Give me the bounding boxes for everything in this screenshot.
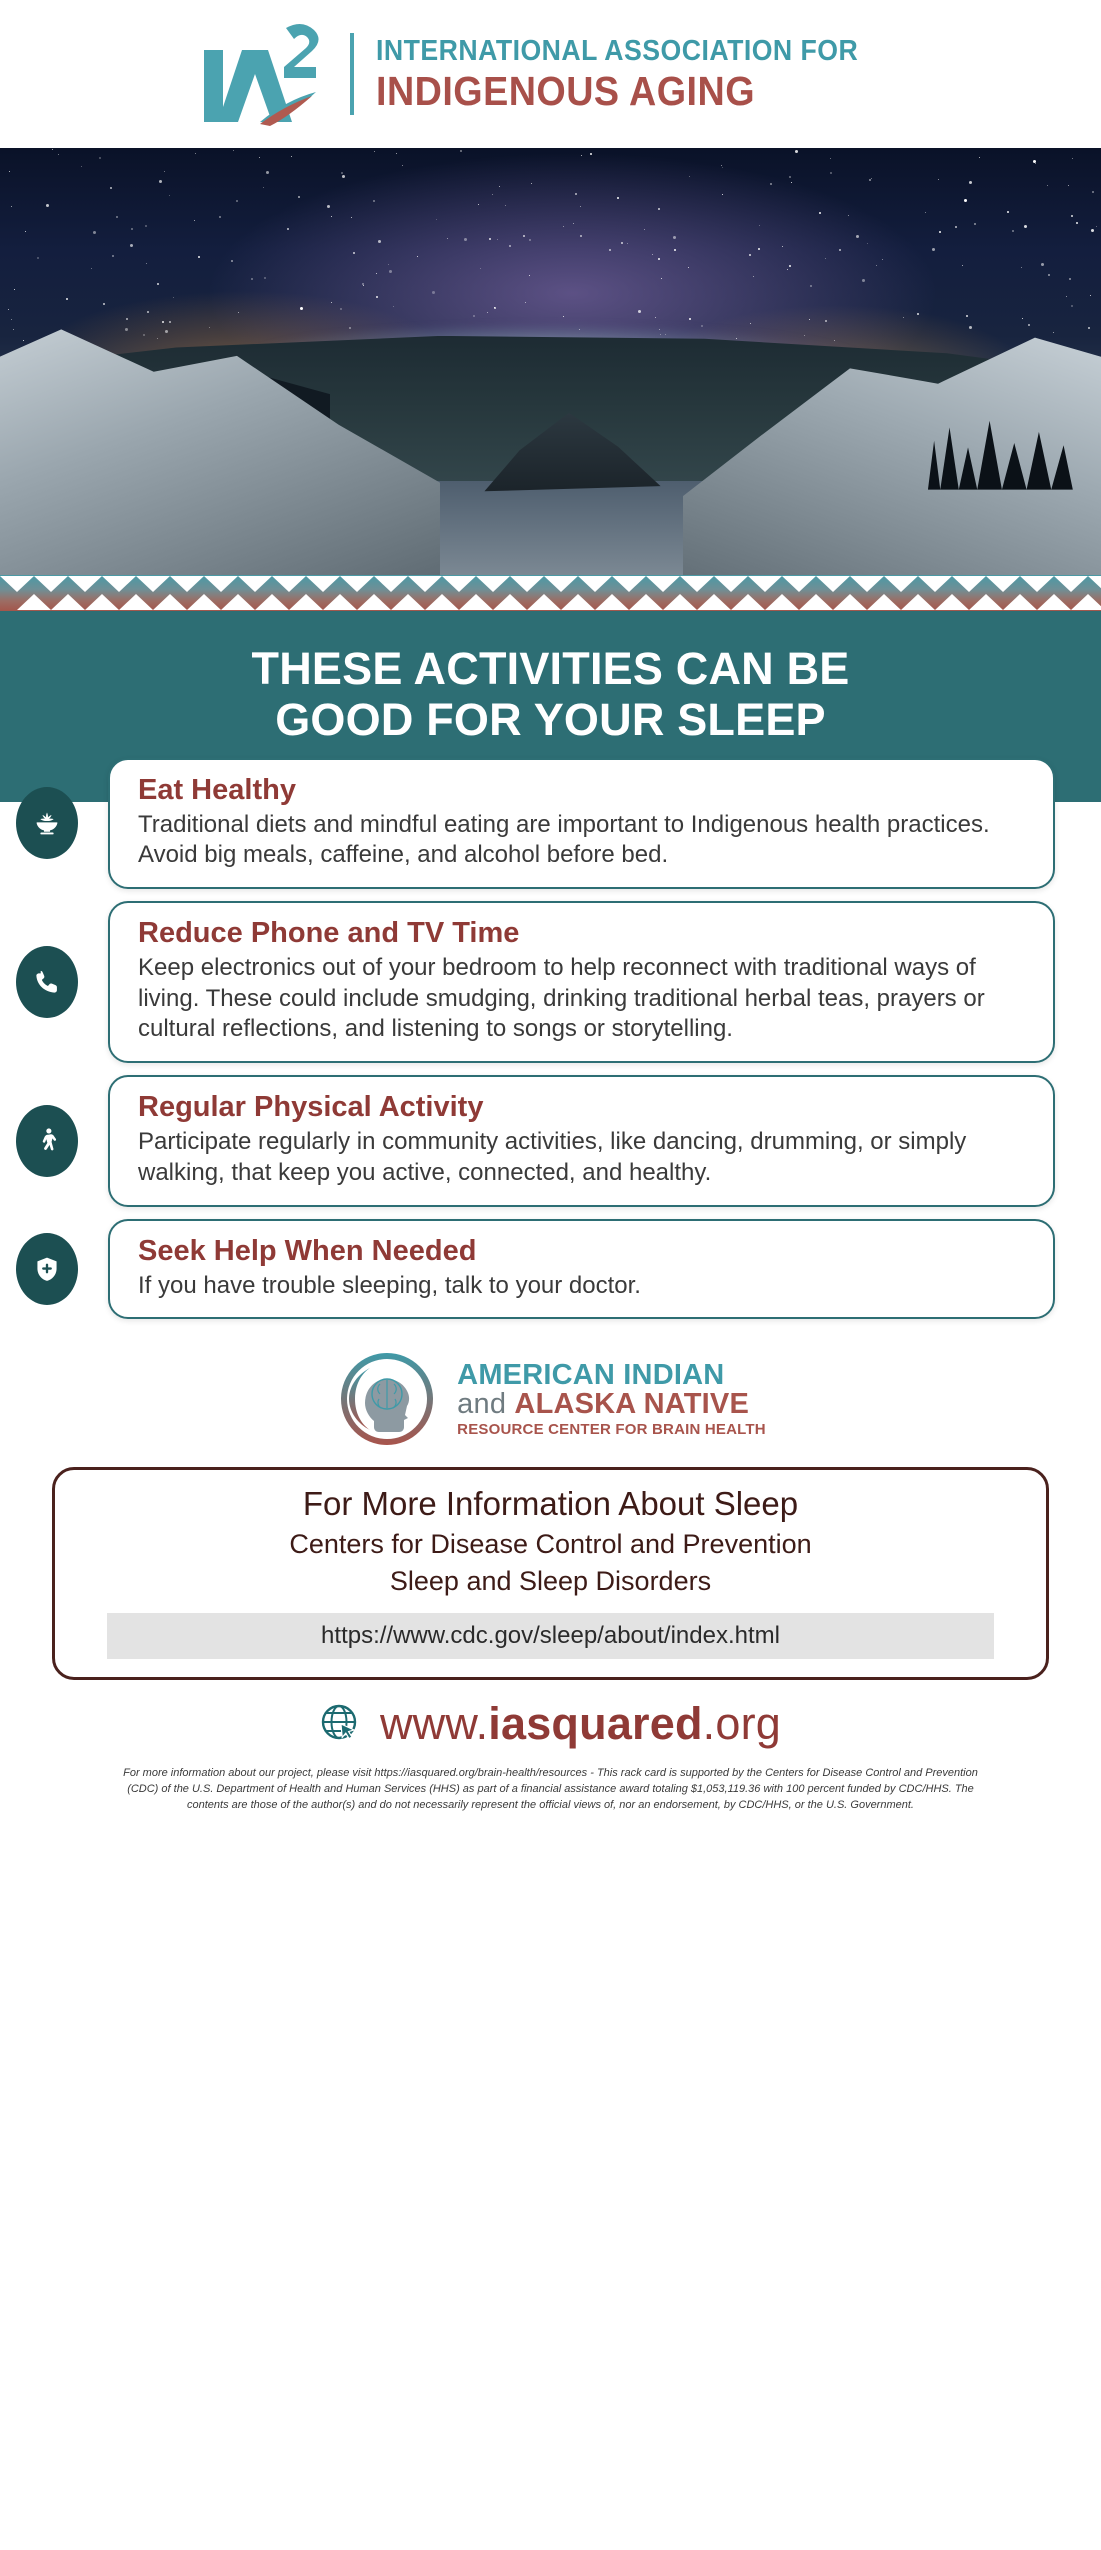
- activity-title: Regular Physical Activity: [138, 1091, 1025, 1124]
- brain-head-profile-icon: [335, 1347, 439, 1451]
- website-url-text: www.iasquared.org: [380, 1698, 781, 1750]
- activity-body: Keep electronics out of your bedroom to …: [138, 953, 1025, 1045]
- logo-line-2: INDIGENOUS AGING: [376, 71, 858, 112]
- ia2-logo[interactable]: INTERNATIONAL ASSOCIATION FOR INDIGENOUS…: [200, 22, 900, 126]
- zigzag-divider: [0, 575, 1101, 611]
- logo-line-1: INTERNATIONAL ASSOCIATION FOR: [376, 37, 858, 66]
- website-brand: iasquared: [488, 1698, 702, 1749]
- aian-line-1: AMERICAN INDIAN: [457, 1361, 766, 1390]
- aian-line-2-bold: ALASKA NATIVE: [514, 1388, 749, 1420]
- activity-card[interactable]: Regular Physical Activity Participate re…: [108, 1075, 1055, 1206]
- aian-line-2-lite: and: [457, 1388, 514, 1420]
- page-title: THESE ACTIVITIES CAN BE GOOD FOR YOUR SL…: [0, 643, 1101, 746]
- more-information-box: For More Information About Sleep Centers…: [52, 1467, 1049, 1680]
- website-prefix: www.: [380, 1698, 488, 1749]
- activity-title: Eat Healthy: [138, 774, 1025, 807]
- aian-line-3: RESOURCE CENTER FOR BRAIN HEALTH: [457, 1422, 766, 1437]
- headline-line-1: THESE ACTIVITIES CAN BE: [252, 643, 850, 694]
- phone-icon: [16, 946, 78, 1018]
- headline-line-2: GOOD FOR YOUR SLEEP: [275, 694, 826, 745]
- activity-card-list: Eat Healthy Traditional diets and mindfu…: [0, 758, 1101, 1326]
- aian-line-2: and ALASKA NATIVE: [457, 1390, 766, 1419]
- activity-body: Participate regularly in community activ…: [138, 1127, 1025, 1188]
- walking-person-icon: [16, 1105, 78, 1177]
- activity-title: Reduce Phone and TV Time: [138, 917, 1025, 950]
- shield-plus-icon: [16, 1233, 78, 1305]
- ia2-logo-mark-icon: [200, 22, 328, 126]
- website-suffix: .org: [703, 1698, 781, 1749]
- header: INTERNATIONAL ASSOCIATION FOR INDIGENOUS…: [0, 0, 1101, 148]
- aian-resource-center-logo[interactable]: AMERICAN INDIAN and ALASKA NATIVE RESOUR…: [0, 1325, 1101, 1463]
- activity-card[interactable]: Eat Healthy Traditional diets and mindfu…: [108, 758, 1055, 889]
- cdc-url[interactable]: https://www.cdc.gov/sleep/about/index.ht…: [107, 1613, 994, 1659]
- globe-cursor-icon: [320, 1703, 362, 1745]
- infobox-subtitle-2: Sleep and Sleep Disorders: [75, 1565, 1026, 1598]
- logo-wordmark: INTERNATIONAL ASSOCIATION FOR INDIGENOUS…: [376, 37, 900, 112]
- aian-wordmark: AMERICAN INDIAN and ALASKA NATIVE RESOUR…: [457, 1361, 766, 1437]
- hero-image: [0, 148, 1101, 575]
- activity-card[interactable]: Seek Help When Needed If you have troubl…: [108, 1219, 1055, 1320]
- funding-disclaimer: For more information about our project, …: [0, 1756, 1101, 1828]
- activity-title: Seek Help When Needed: [138, 1235, 1025, 1268]
- activity-body: If you have trouble sleeping, talk to yo…: [138, 1271, 1025, 1302]
- website-link[interactable]: www.iasquared.org: [0, 1680, 1101, 1756]
- activity-card[interactable]: Reduce Phone and TV Time Keep electronic…: [108, 901, 1055, 1063]
- activity-body: Traditional diets and mindful eating are…: [138, 810, 1025, 871]
- infobox-title: For More Information About Sleep: [75, 1484, 1026, 1524]
- infobox-subtitle-1: Centers for Disease Control and Preventi…: [75, 1528, 1026, 1561]
- bowl-of-food-icon: [16, 787, 78, 859]
- logo-divider: [350, 33, 354, 115]
